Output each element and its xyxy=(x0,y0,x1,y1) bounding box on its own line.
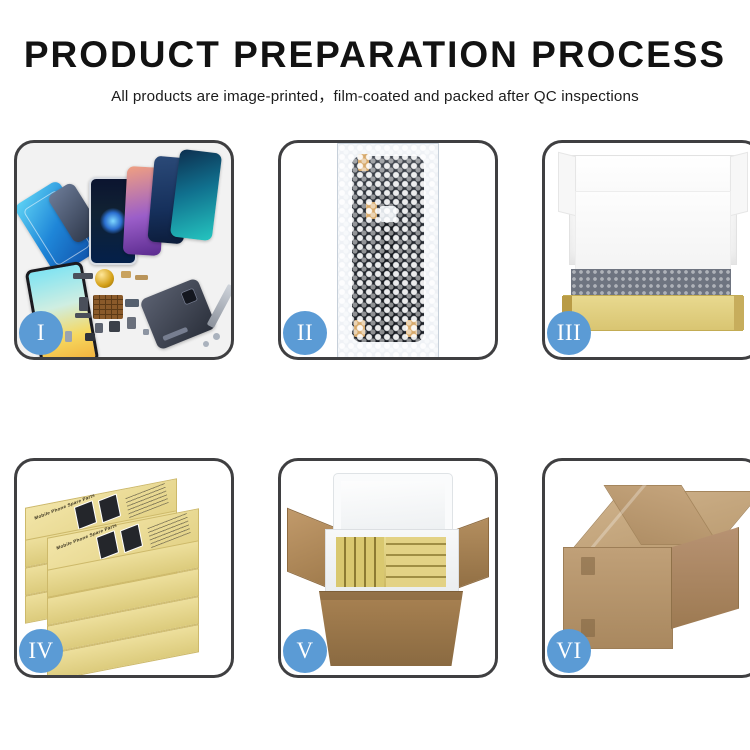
header: PRODUCT PREPARATION PROCESS All products… xyxy=(0,36,750,106)
packed-yellow-boxes xyxy=(336,537,446,587)
carton-body xyxy=(319,591,463,666)
spare-part-icon xyxy=(95,323,103,333)
retail-box-layer xyxy=(47,639,199,667)
step-badge-2: II xyxy=(283,311,327,355)
box-product-photo xyxy=(98,493,121,523)
process-step-2: II xyxy=(278,140,498,360)
process-step-4: Mobile Phone Spare Parts Mobile Phone Sp… xyxy=(14,458,234,678)
step-badge-4: IV xyxy=(19,629,63,673)
spare-part-icon xyxy=(65,331,72,342)
step-badge-5: V xyxy=(283,629,327,673)
bubble-wrap-sleeve xyxy=(337,143,439,357)
process-step-grid: I II xyxy=(14,140,746,678)
bubble-texture-highlight xyxy=(338,144,438,357)
page-subtitle: All products are image-printed，film-coat… xyxy=(0,84,750,106)
spare-part-icon xyxy=(213,333,220,340)
step-badge-3: III xyxy=(547,311,591,355)
mailer-foam-sheet xyxy=(575,191,731,275)
carton-tape-mark xyxy=(581,557,595,575)
page-title: PRODUCT PREPARATION PROCESS xyxy=(0,36,750,75)
spare-part-icon xyxy=(85,333,95,341)
chip-board-icon xyxy=(93,295,123,319)
phone-back-housing-icon xyxy=(139,277,217,350)
spare-part-icon xyxy=(143,329,149,335)
product-preparation-infographic: PRODUCT PREPARATION PROCESS All products… xyxy=(0,0,750,750)
step-badge-1: I xyxy=(19,311,63,355)
spare-part-icon xyxy=(73,273,93,279)
process-step-3: III xyxy=(542,140,750,360)
process-step-1: I xyxy=(14,140,234,360)
process-step-5: V xyxy=(278,458,498,678)
spare-part-icon xyxy=(203,341,209,347)
spare-part-icon xyxy=(109,321,120,332)
spare-part-icon xyxy=(79,297,88,311)
spare-part-icon xyxy=(135,275,148,280)
spare-part-icon xyxy=(75,313,91,318)
step-badge-6: VI xyxy=(547,629,591,673)
foam-box-lid xyxy=(333,473,453,537)
speaker-module-icon xyxy=(95,269,114,288)
screwdriver-icon xyxy=(207,284,231,328)
box-product-photo xyxy=(120,523,143,553)
spare-part-icon xyxy=(125,299,139,307)
spare-part-icon xyxy=(127,317,136,329)
spare-part-icon xyxy=(121,271,131,278)
process-step-6: VI xyxy=(542,458,750,678)
